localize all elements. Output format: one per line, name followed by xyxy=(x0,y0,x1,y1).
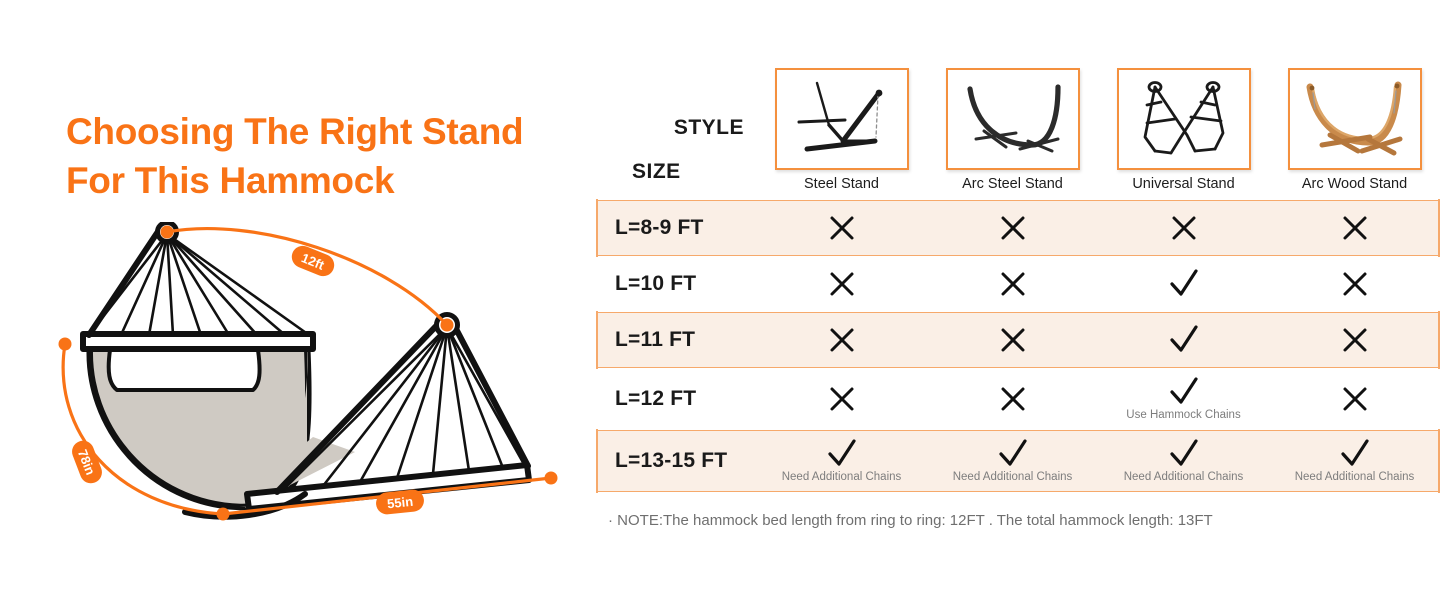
column-label: Arc Steel Stand xyxy=(962,176,1063,192)
cell-arc-wood-stand: Need Additional Chains xyxy=(1269,431,1440,491)
table-row: L=12 FT xyxy=(596,368,1440,430)
hammock-dimension-diagram: .ink{fill:none;stroke:#111111;stroke-lin… xyxy=(55,222,575,522)
row-label: L=10 FT xyxy=(596,272,756,296)
cross-icon xyxy=(1169,213,1199,243)
steel-stand-thumbnail xyxy=(775,68,909,170)
cross-icon xyxy=(998,325,1028,355)
cell-universal-stand xyxy=(1098,256,1269,312)
cross-icon xyxy=(1340,269,1370,299)
check-icon xyxy=(1167,376,1201,408)
check-icon xyxy=(1167,438,1201,470)
check-icon xyxy=(1167,268,1201,300)
cross-icon xyxy=(998,384,1028,414)
cell-universal-stand: Need Additional Chains xyxy=(1098,431,1269,491)
cell-note: Need Additional Chains xyxy=(1295,472,1415,484)
cell-arc-wood-stand xyxy=(1269,256,1440,312)
dimension-line-12ft xyxy=(167,229,447,325)
compatibility-table: STYLE SIZE xyxy=(596,0,1440,590)
row-label: L=13-15 FT xyxy=(596,449,756,473)
cell-note: Need Additional Chains xyxy=(953,472,1073,484)
cell-arc-wood-stand xyxy=(1269,313,1440,367)
cell-arc-steel-stand xyxy=(927,256,1098,312)
cross-icon xyxy=(998,269,1028,299)
row-label: L=12 FT xyxy=(596,387,756,411)
cell-universal-stand: Use Hammock Chains xyxy=(1098,368,1269,430)
column-header-universal-stand: Universal Stand xyxy=(1098,68,1269,194)
size-axis-label: SIZE xyxy=(632,160,681,184)
cell-steel-stand xyxy=(756,256,927,312)
cross-icon xyxy=(998,213,1028,243)
check-icon xyxy=(1338,438,1372,470)
cell-arc-steel-stand xyxy=(927,368,1098,430)
cross-icon xyxy=(1340,384,1370,414)
cell-note: Need Additional Chains xyxy=(782,472,902,484)
table-row: L=10 FT xyxy=(596,256,1440,312)
table-row: L=8-9 FT xyxy=(596,200,1440,256)
cell-arc-wood-stand xyxy=(1269,201,1440,255)
table-row: L=13-15 FT Need Additional Chains Need A… xyxy=(596,430,1440,492)
table-footnote: · NOTE:The hammock bed length from ring … xyxy=(608,512,1213,529)
cross-icon xyxy=(827,269,857,299)
cell-note: Need Additional Chains xyxy=(1124,472,1244,484)
cross-icon xyxy=(1340,213,1370,243)
hammock-fabric-fold xyxy=(109,350,260,390)
table-column-headers: Steel Stand Arc Steel Stand xyxy=(756,68,1440,194)
dimension-label-12ft: 12ft xyxy=(288,243,337,280)
cell-universal-stand xyxy=(1098,201,1269,255)
cell-arc-wood-stand xyxy=(1269,368,1440,430)
column-label: Universal Stand xyxy=(1132,176,1234,192)
cell-arc-steel-stand xyxy=(927,313,1098,367)
cross-icon xyxy=(827,384,857,414)
cross-icon xyxy=(827,325,857,355)
table-corner-header: STYLE SIZE xyxy=(596,108,754,194)
arc-steel-stand-thumbnail xyxy=(946,68,1080,170)
row-label: L=8-9 FT xyxy=(596,216,756,240)
left-panel: Choosing The Right Stand For This Hammoc… xyxy=(0,0,600,590)
page-title: Choosing The Right Stand For This Hammoc… xyxy=(66,108,586,206)
left-spreader-bar xyxy=(83,334,313,349)
column-header-steel-stand: Steel Stand xyxy=(756,68,927,194)
page-title-line-1: Choosing The Right Stand xyxy=(66,108,586,157)
universal-stand-thumbnail xyxy=(1117,68,1251,170)
cell-note: Use Hammock Chains xyxy=(1126,410,1240,422)
table-body: L=8-9 FT xyxy=(596,200,1440,492)
cell-universal-stand xyxy=(1098,313,1269,367)
cross-icon xyxy=(827,213,857,243)
column-label: Arc Wood Stand xyxy=(1302,176,1407,192)
cell-steel-stand xyxy=(756,313,927,367)
cell-steel-stand xyxy=(756,368,927,430)
cell-steel-stand xyxy=(756,201,927,255)
page-title-line-2: For This Hammock xyxy=(66,157,586,206)
style-axis-label: STYLE xyxy=(674,116,744,140)
check-icon xyxy=(996,438,1030,470)
cell-steel-stand: Need Additional Chains xyxy=(756,431,927,491)
table-row: L=11 FT xyxy=(596,312,1440,368)
arc-wood-stand-thumbnail xyxy=(1288,68,1422,170)
column-label: Steel Stand xyxy=(804,176,879,192)
cell-arc-steel-stand: Need Additional Chains xyxy=(927,431,1098,491)
svg-text:55in: 55in xyxy=(386,494,413,512)
hammock-stand-compatibility-infographic: Choosing The Right Stand For This Hammoc… xyxy=(0,0,1440,590)
column-header-arc-wood-stand: Arc Wood Stand xyxy=(1269,68,1440,194)
row-label: L=11 FT xyxy=(596,328,756,352)
check-icon xyxy=(825,438,859,470)
check-icon xyxy=(1167,324,1201,356)
cell-arc-steel-stand xyxy=(927,201,1098,255)
cross-icon xyxy=(1340,325,1370,355)
column-header-arc-steel-stand: Arc Steel Stand xyxy=(927,68,1098,194)
